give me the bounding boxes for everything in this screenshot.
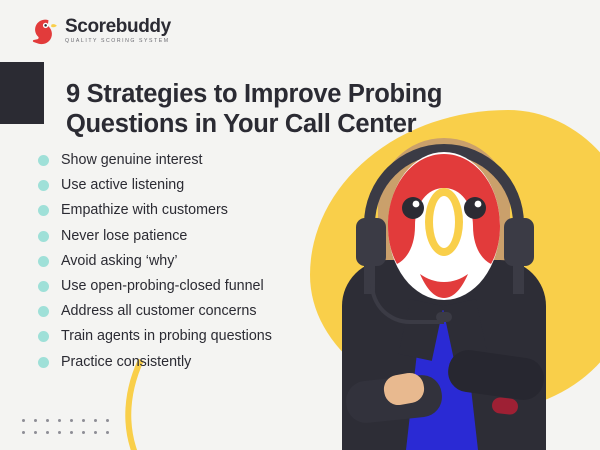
grid-dot-icon <box>34 419 37 422</box>
grid-dot-icon <box>46 419 49 422</box>
list-item-label: Empathize with customers <box>61 202 228 219</box>
page-title: 9 Strategies to Improve Probing Question… <box>66 79 496 139</box>
list-item-label: Use active listening <box>61 177 184 194</box>
bullet-dot-icon <box>38 180 49 191</box>
list-item-label: Avoid asking ‘why’ <box>61 253 178 270</box>
bullet-dot-icon <box>38 357 49 368</box>
brand-name: Scorebuddy <box>65 17 171 36</box>
fingernails-shape <box>491 397 519 416</box>
headset-mic-tip-icon <box>436 312 452 322</box>
bullet-dot-icon <box>38 231 49 242</box>
list-item-label: Address all customer concerns <box>61 303 256 320</box>
grid-dot-icon <box>94 419 97 422</box>
brand-logo: Scorebuddy QUALITY SCORING SYSTEM <box>28 16 171 46</box>
grid-dot-icon <box>46 431 49 434</box>
agent-illustration <box>328 130 558 450</box>
grid-dot-icon <box>34 431 37 434</box>
list-item-label: Never lose patience <box>61 228 187 245</box>
grid-dot-icon <box>106 419 109 422</box>
parrot-mask-icon <box>376 148 512 308</box>
list-item: Practice consistently <box>38 350 272 375</box>
list-item-label: Train agents in probing questions <box>61 328 272 345</box>
grid-dot-icon <box>70 431 73 434</box>
bullet-dot-icon <box>38 281 49 292</box>
dot-grid-row <box>22 431 109 434</box>
list-item: Train agents in probing questions <box>38 324 272 349</box>
dot-grid-row <box>22 419 109 422</box>
poster-canvas: Scorebuddy QUALITY SCORING SYSTEM 9 Stra… <box>0 0 600 450</box>
grid-dot-icon <box>22 431 25 434</box>
list-item: Avoid asking ‘why’ <box>38 249 272 274</box>
list-item: Never lose patience <box>38 224 272 249</box>
list-item: Address all customer concerns <box>38 299 272 324</box>
parrot-logo-icon <box>28 16 58 46</box>
list-item: Empathize with customers <box>38 198 272 223</box>
bullet-dot-icon <box>38 256 49 267</box>
grid-dot-icon <box>94 431 97 434</box>
bullet-dot-icon <box>38 205 49 216</box>
strategy-list: Show genuine interest Use active listeni… <box>38 148 272 375</box>
list-item-label: Use open-probing-closed funnel <box>61 278 264 295</box>
grid-dot-icon <box>82 419 85 422</box>
bullet-dot-icon <box>38 155 49 166</box>
list-item-label: Show genuine interest <box>61 152 202 169</box>
bullet-dot-icon <box>38 306 49 317</box>
list-item: Show genuine interest <box>38 148 272 173</box>
grid-dot-icon <box>58 419 61 422</box>
grid-dot-icon <box>22 419 25 422</box>
list-item: Use open-probing-closed funnel <box>38 274 272 299</box>
bullet-dot-icon <box>38 331 49 342</box>
list-item-label: Practice consistently <box>61 354 191 371</box>
grid-dot-icon <box>70 419 73 422</box>
dark-square-accent <box>0 62 44 124</box>
list-item: Use active listening <box>38 173 272 198</box>
grid-dot-icon <box>58 431 61 434</box>
dot-grid-decoration <box>22 419 109 434</box>
brand-text: Scorebuddy QUALITY SCORING SYSTEM <box>65 17 171 45</box>
brand-tagline: QUALITY SCORING SYSTEM <box>65 38 171 45</box>
grid-dot-icon <box>82 431 85 434</box>
grid-dot-icon <box>106 431 109 434</box>
